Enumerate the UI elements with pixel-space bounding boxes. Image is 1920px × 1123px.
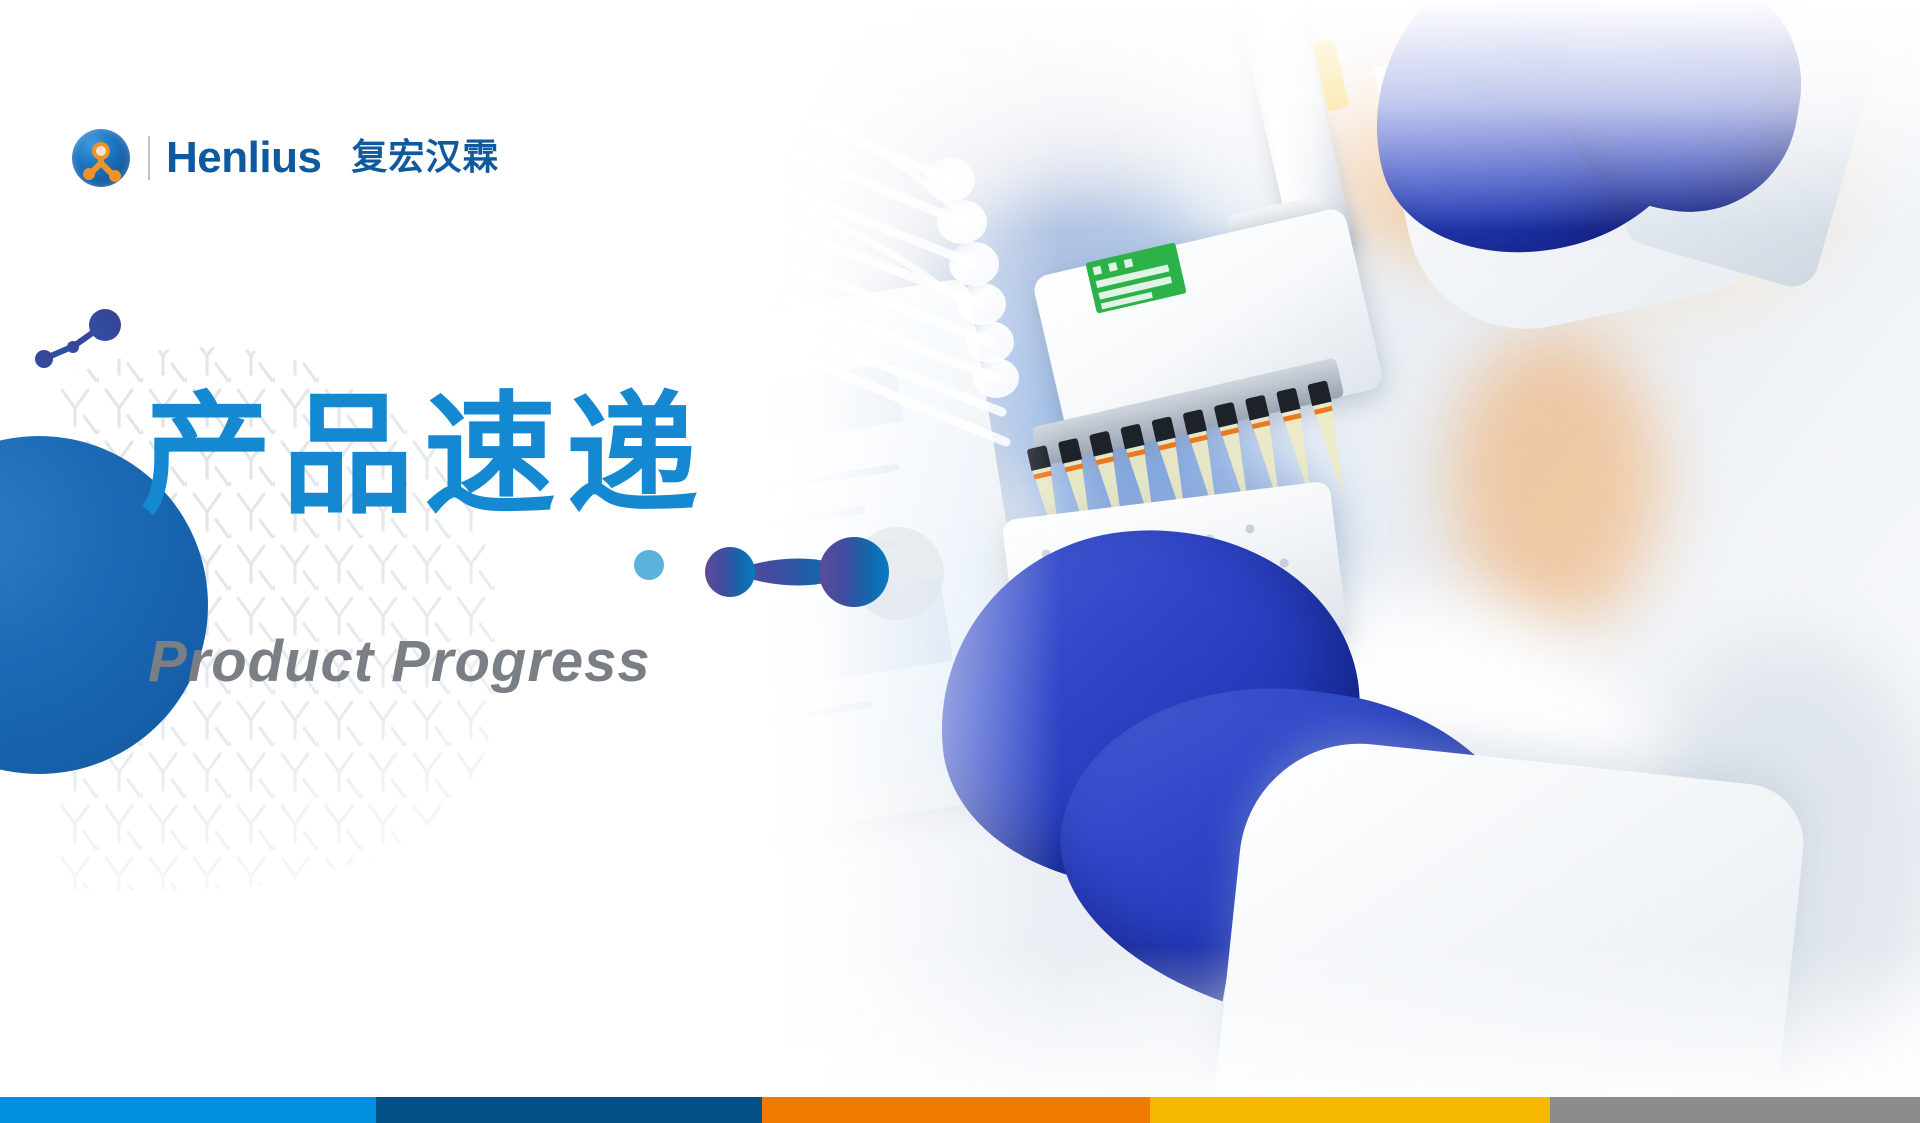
photo-fade-bottom (760, 947, 1920, 1097)
henlius-logo[interactable]: Henlius 复宏汉霖 (72, 127, 499, 189)
page-title-chinese: 产品速递 (140, 390, 708, 522)
logo-english-name: Henlius (166, 136, 321, 180)
brand-color-bar (0, 1097, 1920, 1123)
photo-blur-blob-orange-2 (1450, 330, 1660, 630)
color-bar-segment-grey (1550, 1097, 1920, 1123)
presentation-slide: Henlius 复宏汉霖 产品速递 Product Progress (0, 0, 1920, 1123)
color-bar-segment-yellow (1150, 1097, 1550, 1123)
color-bar-segment-orange (762, 1097, 1150, 1123)
logo-chinese-name: 复宏汉霖 (351, 140, 499, 176)
henlius-circular-emblem-icon (72, 129, 130, 187)
emblem-molecule-glyph (72, 129, 130, 187)
molecule-accent-top-left-icon (26, 308, 136, 378)
logo-divider (148, 136, 150, 180)
color-bar-segment-dark-blue (376, 1097, 762, 1123)
molecule-accent-center-icon (702, 533, 892, 611)
page-subtitle-english: Product Progress (148, 633, 651, 691)
color-bar-segment-light-blue (0, 1097, 376, 1123)
dot-accent-cyan-icon (634, 550, 664, 580)
